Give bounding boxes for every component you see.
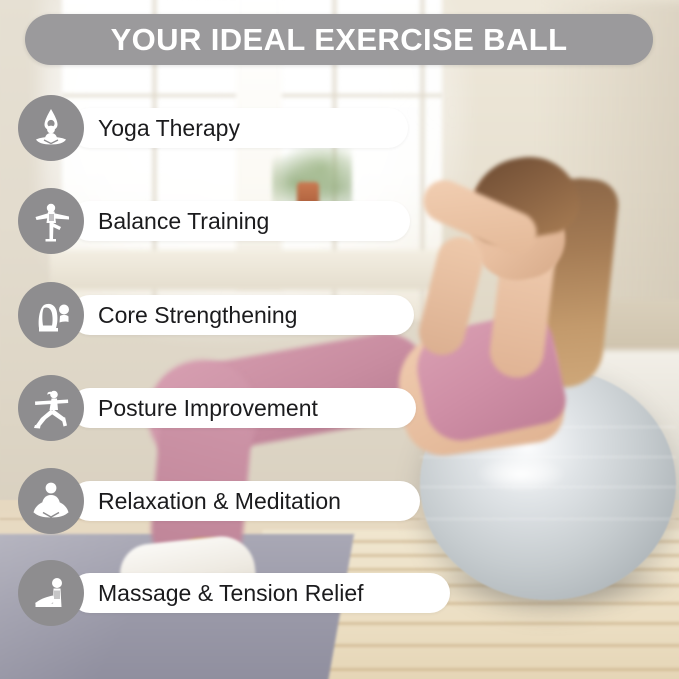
feature-label-pill: Relaxation & Meditation [70, 481, 420, 521]
exercise-ball-infographic-poster: YOUR IDEAL EXERCISE BALL Yoga Therapy [0, 0, 679, 679]
warrior-pose-icon [18, 375, 84, 441]
massage-therapy-icon [18, 560, 84, 626]
feature-label-pill: Yoga Therapy [70, 108, 408, 148]
feature-label-pill: Balance Training [70, 201, 410, 241]
feature-label-pill: Core Strengthening [70, 295, 414, 335]
feature-label-pill: Posture Improvement [70, 388, 416, 428]
feature-label: Balance Training [98, 208, 269, 235]
yoga-lotus-arms-up-icon [18, 95, 84, 161]
feature-label: Relaxation & Meditation [98, 488, 341, 515]
meditation-lotus-icon [18, 468, 84, 534]
page-title: YOUR IDEAL EXERCISE BALL [111, 22, 568, 58]
feature-label-pill: Massage & Tension Relief [70, 573, 450, 613]
core-crunch-icon [18, 282, 84, 348]
feature-row-yoga-therapy[interactable]: Yoga Therapy [18, 95, 408, 161]
feature-label: Core Strengthening [98, 302, 297, 329]
feature-row-core-strengthening[interactable]: Core Strengthening [18, 282, 414, 348]
feature-label: Posture Improvement [98, 395, 318, 422]
feature-row-posture-improvement[interactable]: Posture Improvement [18, 375, 416, 441]
balance-tree-pose-icon [18, 188, 84, 254]
feature-label: Massage & Tension Relief [98, 580, 364, 607]
feature-row-massage-tension-relief[interactable]: Massage & Tension Relief [18, 560, 450, 626]
feature-row-balance-training[interactable]: Balance Training [18, 188, 410, 254]
feature-label: Yoga Therapy [98, 115, 240, 142]
header-banner: YOUR IDEAL EXERCISE BALL [25, 14, 653, 65]
feature-row-relaxation-meditation[interactable]: Relaxation & Meditation [18, 468, 420, 534]
